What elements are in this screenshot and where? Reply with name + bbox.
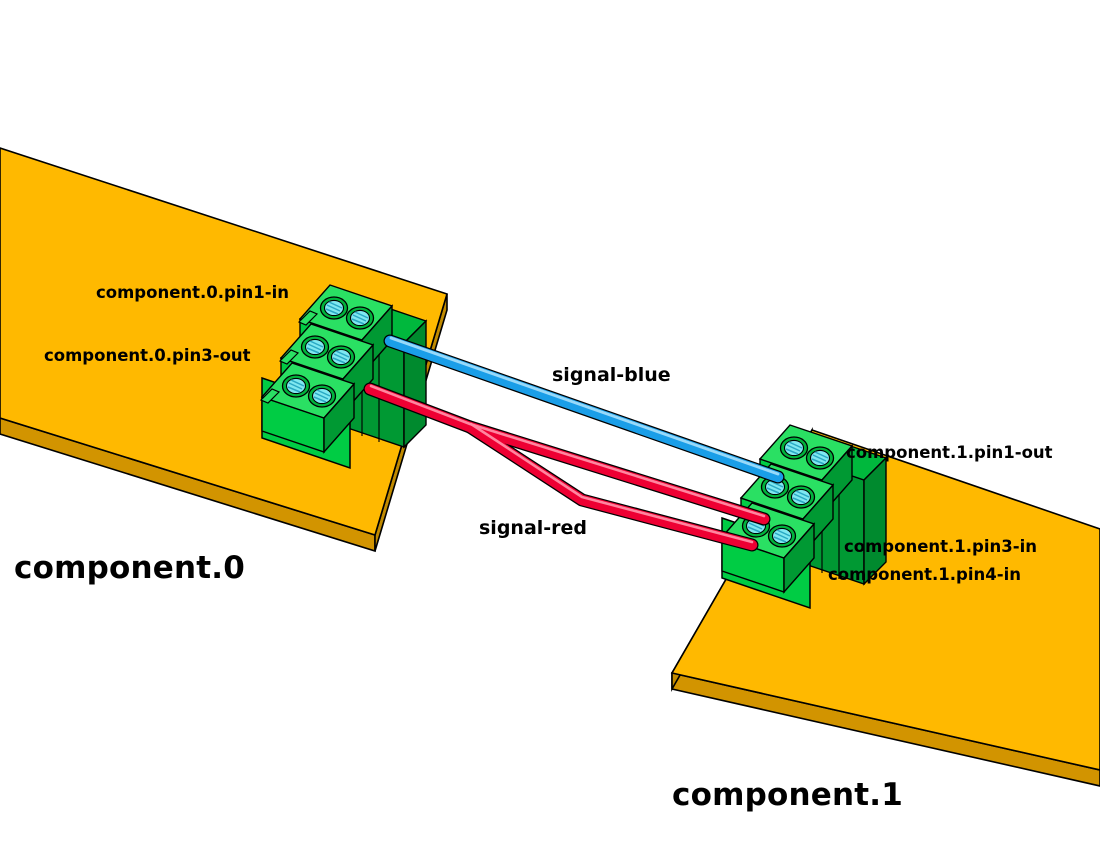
label-component-1-pin4-in: component.1.pin4-in [828, 567, 1021, 584]
title-component-1: component.1 [672, 780, 903, 811]
signal-blue-highlight [391, 338, 778, 474]
label-component-0-pin1-in: component.0.pin1-in [96, 285, 289, 302]
label-signal-red: signal-red [479, 519, 587, 538]
label-signal-blue: signal-blue [552, 366, 671, 385]
title-component-0: component.0 [14, 553, 245, 584]
label-component-0-pin3-out: component.0.pin3-out [44, 348, 251, 365]
label-component-1-pin3-in: component.1.pin3-in [844, 539, 1037, 556]
pcb-connection-scene [0, 0, 1100, 850]
label-component-1-pin1-out: component.1.pin1-out [846, 445, 1053, 462]
diagram-canvas: component.0.pin1-in component.0.pin3-out… [0, 0, 1100, 850]
